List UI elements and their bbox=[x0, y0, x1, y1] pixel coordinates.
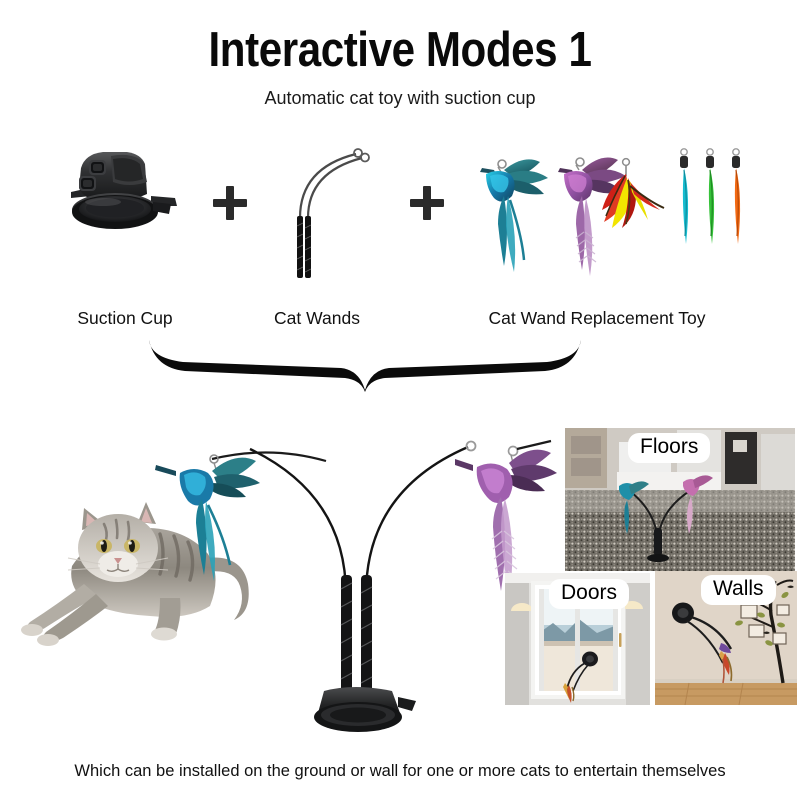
product-label-replacement-toy: Cat Wand Replacement Toy bbox=[452, 308, 742, 329]
plus-operator-1 bbox=[213, 186, 247, 220]
footer-caption: Which can be installed on the ground or … bbox=[0, 762, 800, 781]
downward-brace-arrow bbox=[145, 338, 585, 394]
placement-badge-floors: Floors bbox=[628, 433, 710, 463]
page-title: Interactive Modes 1 bbox=[56, 22, 744, 78]
walls-usage-photo: Walls bbox=[655, 571, 797, 705]
product-label-cat-wands: Cat Wands bbox=[217, 308, 417, 329]
cat-wands-product-image bbox=[278, 140, 388, 280]
floors-usage-photo: Floors bbox=[565, 428, 795, 571]
replacement-feather-toys-product-image bbox=[452, 140, 752, 290]
placement-badge-walls: Walls bbox=[701, 575, 776, 605]
placement-badge-doors: Doors bbox=[549, 579, 629, 609]
page-subtitle: Automatic cat toy with suction cup bbox=[0, 88, 800, 109]
product-infographic: Interactive Modes 1 Automatic cat toy wi… bbox=[0, 0, 800, 800]
suction-cup-product-image bbox=[55, 138, 190, 258]
doors-usage-photo: Doors bbox=[505, 573, 650, 705]
product-label-suction-cup: Suction Cup bbox=[25, 308, 225, 329]
plus-operator-2 bbox=[410, 186, 444, 220]
